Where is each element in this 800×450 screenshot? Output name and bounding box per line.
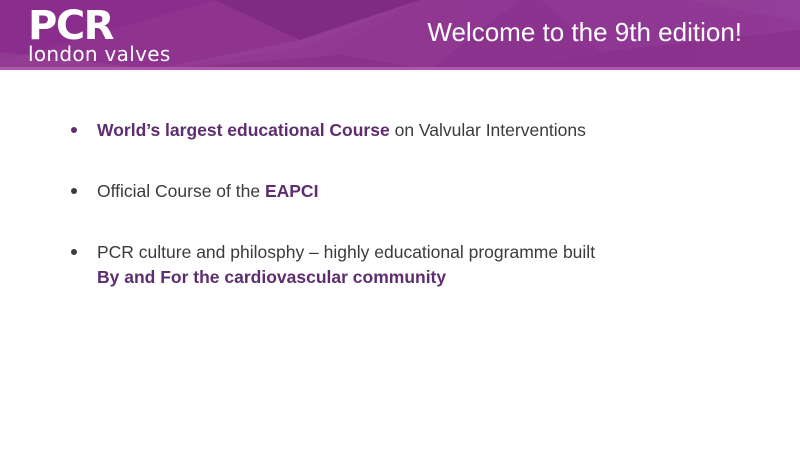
- pcr-london-valves-logo: PCR london valves: [28, 7, 208, 63]
- bullet-text-segment: World’s largest educational Course: [97, 120, 390, 140]
- logo-mark-text: PCR: [28, 7, 208, 45]
- bullet-text-segment: PCR culture and philosphy – highly educa…: [97, 242, 595, 262]
- bullet-text-segment: Official Course of the: [97, 181, 265, 201]
- bullet-dot-icon: [71, 188, 77, 194]
- bullet-item: World’s largest educational Course on Va…: [66, 118, 766, 143]
- logo-subtitle-text: london valves: [28, 44, 208, 65]
- header-banner: PCR london valves Welcome to the 9th edi…: [0, 0, 800, 70]
- bullet-text-segment: EAPCI: [265, 181, 318, 201]
- bullet-dot-icon: [71, 249, 77, 255]
- bullet-dot-icon: [71, 127, 77, 133]
- bullet-text-segment: By and For the cardiovascular community: [97, 265, 766, 290]
- bullet-item: PCR culture and philosphy – highly educa…: [66, 240, 766, 290]
- page-title: Welcome to the 9th edition!: [427, 14, 742, 50]
- bullet-text-segment: on Valvular Interventions: [390, 120, 586, 140]
- bullet-list: World’s largest educational Course on Va…: [66, 118, 766, 290]
- slide-body: World’s largest educational Course on Va…: [0, 70, 800, 450]
- bullet-item: Official Course of the EAPCI: [66, 179, 766, 204]
- slide: PCR london valves Welcome to the 9th edi…: [0, 0, 800, 450]
